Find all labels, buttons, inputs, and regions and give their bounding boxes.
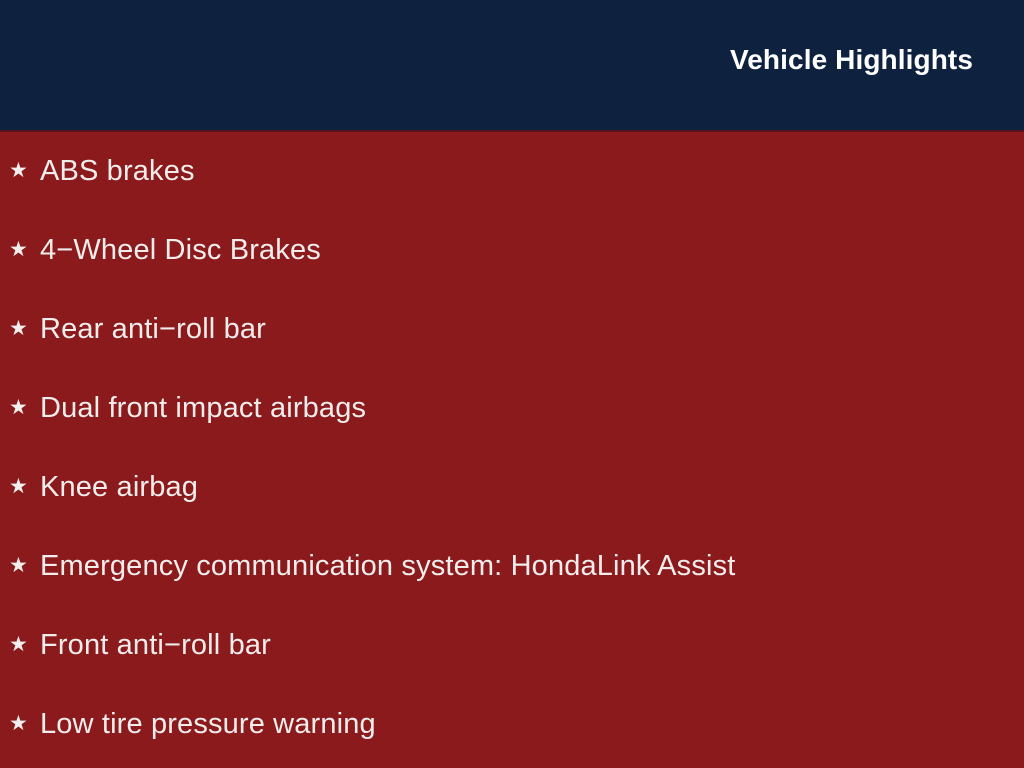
list-item: ★ 4−Wheel Disc Brakes [0,211,1024,290]
list-item: ★ Dual front impact airbags [0,369,1024,448]
star-bullet-icon: ★ [9,318,40,339]
list-item: ★ Low tire pressure warning [0,685,1024,764]
vehicle-highlights-list: ★ ABS brakes ★ 4−Wheel Disc Brakes ★ Rea… [0,132,1024,764]
star-bullet-icon: ★ [9,555,40,576]
list-item-label: Low tire pressure warning [40,708,1024,740]
list-item-label: Dual front impact airbags [40,392,1024,424]
list-item-label: Emergency communication system: HondaLin… [40,550,1024,582]
list-item: ★ Knee airbag [0,448,1024,527]
star-bullet-icon: ★ [9,160,40,181]
list-item: ★ Front anti−roll bar [0,606,1024,685]
star-bullet-icon: ★ [9,634,40,655]
list-item: ★ Emergency communication system: HondaL… [0,527,1024,606]
list-item-label: Rear anti−roll bar [40,313,1024,345]
slide-body: ★ ABS brakes ★ 4−Wheel Disc Brakes ★ Rea… [0,132,1024,768]
list-item-label: ABS brakes [40,155,1024,187]
list-item-label: Front anti−roll bar [40,629,1024,661]
star-bullet-icon: ★ [9,239,40,260]
star-bullet-icon: ★ [9,713,40,734]
list-item: ★ Rear anti−roll bar [0,290,1024,369]
list-item-label: 4−Wheel Disc Brakes [40,234,1024,266]
vehicle-highlights-slide: Vehicle Highlights ★ ABS brakes ★ 4−Whee… [0,0,1024,768]
page-title: Vehicle Highlights [730,45,973,76]
list-item-label: Knee airbag [40,471,1024,503]
list-item: ★ ABS brakes [0,132,1024,211]
star-bullet-icon: ★ [9,476,40,497]
star-bullet-icon: ★ [9,397,40,418]
slide-header: Vehicle Highlights [0,0,1024,132]
